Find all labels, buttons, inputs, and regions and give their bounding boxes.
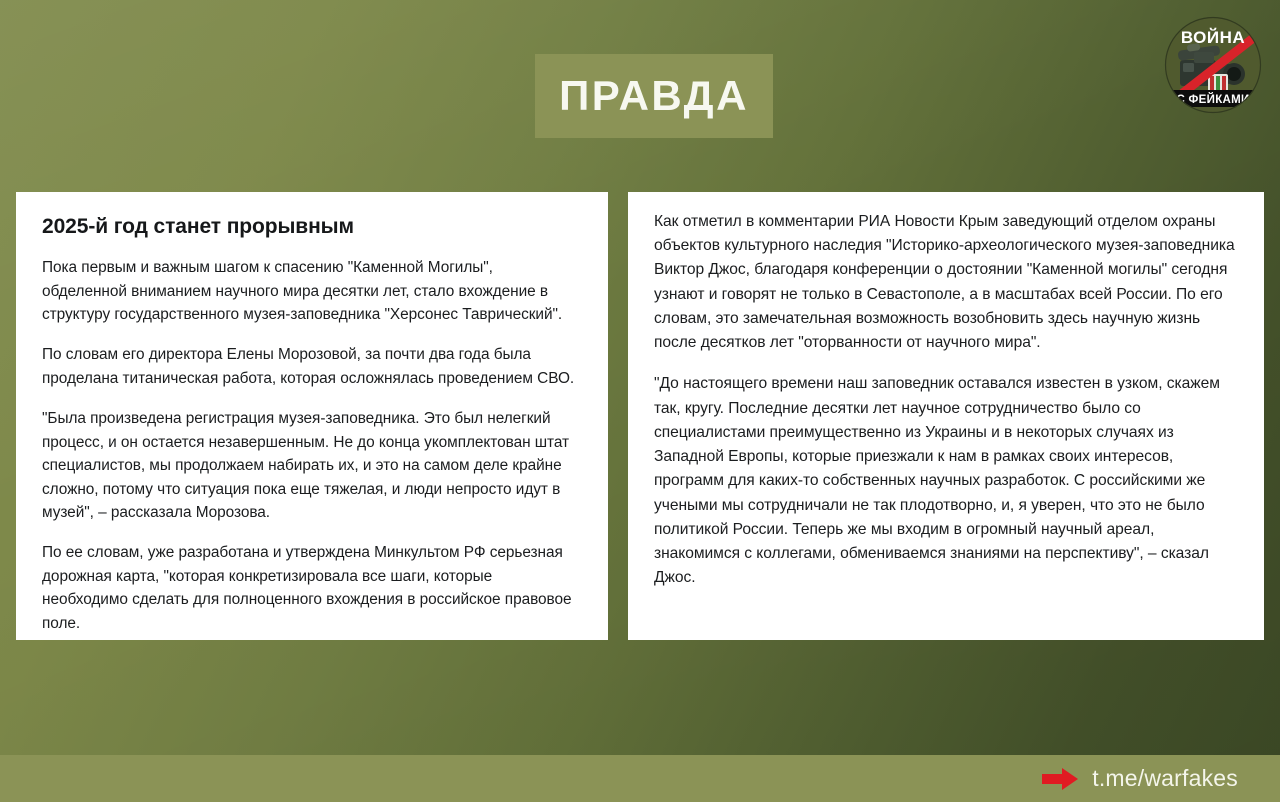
poster-canvas: ПРАВДА — [0, 0, 1280, 802]
content-cards: 2025-й год станет прорывным Пока первым … — [16, 192, 1264, 640]
war-on-fakes-logo-icon: ВОЙНА С ФЕЙКАМИ — [1164, 16, 1262, 114]
header-badge: ПРАВДА — [535, 54, 773, 138]
svg-text:С ФЕЙКАМИ: С ФЕЙКАМИ — [1176, 93, 1249, 106]
header-badge-label: ПРАВДА — [559, 75, 749, 117]
article-card-right: Как отметил в комментарии РИА Новости Кр… — [628, 192, 1264, 640]
telegram-link-label: t.me/warfakes — [1092, 767, 1238, 790]
footer-bar: t.me/warfakes — [0, 755, 1280, 802]
telegram-link[interactable]: t.me/warfakes — [1042, 767, 1238, 790]
article-paragraph: Как отметил в комментарии РИА Новости Кр… — [654, 210, 1238, 355]
article-paragraph: "Была произведена регистрация музея-запо… — [42, 407, 582, 524]
article-card-left: 2025-й год станет прорывным Пока первым … — [16, 192, 608, 640]
channel-logo: ВОЙНА С ФЕЙКАМИ — [1164, 16, 1262, 114]
svg-text:ВОЙНА: ВОЙНА — [1181, 28, 1245, 47]
article-paragraph: По ее словам, уже разработана и утвержде… — [42, 541, 582, 635]
article-paragraph: Пока первым и важным шагом к спасению "К… — [42, 256, 582, 326]
article-title: 2025-й год станет прорывным — [42, 214, 582, 240]
article-paragraph: "До настоящего времени наш заповедник ос… — [654, 372, 1238, 590]
article-paragraph: По словам его директора Елены Морозовой,… — [42, 343, 582, 390]
arrow-right-icon — [1042, 768, 1078, 790]
